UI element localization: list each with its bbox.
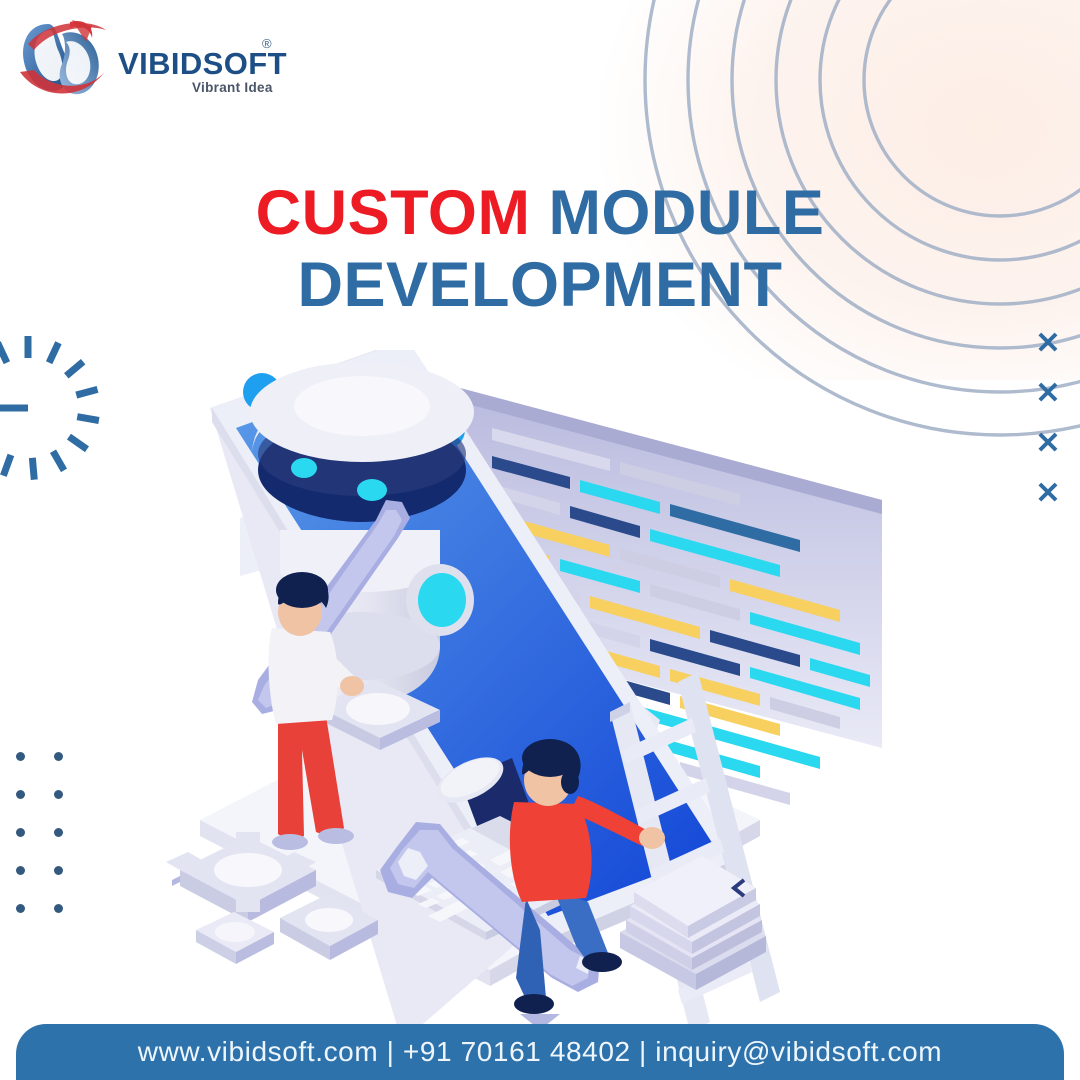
vibidsoft-infinity-swoosh-logo-icon (14, 16, 122, 102)
page-title: CUSTOM MODULE DEVELOPMENT (0, 178, 1080, 322)
contact-footer-bar: www.vibidsoft.com | +91 70161 48402 | in… (16, 1024, 1064, 1080)
isometric-custom-module-development-scene: # </> (140, 350, 940, 1040)
contact-footer-text[interactable]: www.vibidsoft.com | +91 70161 48402 | in… (138, 1036, 942, 1068)
dot-grid-decoration (16, 752, 92, 942)
x-mark-icon: ✕ (1034, 430, 1062, 458)
brand-logo[interactable]: VIBIDSOFT ® Vibrant Idea (14, 14, 278, 106)
headline-line-1: CUSTOM MODULE (0, 178, 1080, 250)
poster-canvas: ✕ ✕ ✕ ✕ (0, 0, 1080, 1080)
brand-tagline: Vibrant Idea (192, 80, 273, 95)
x-mark-icon: ✕ (1034, 380, 1062, 408)
headline-line1-rest: MODULE (548, 178, 824, 248)
headline-line-2: DEVELOPMENT (0, 250, 1080, 322)
sunburst-dashes-decoration (0, 318, 118, 498)
x-marks-decoration: ✕ ✕ ✕ ✕ (1034, 330, 1062, 508)
gear-small (196, 912, 274, 964)
x-mark-icon: ✕ (1034, 480, 1062, 508)
brand-wordmark: VIBIDSOFT (118, 46, 287, 82)
registered-trademark-icon: ® (262, 36, 272, 51)
headline-highlight: CUSTOM (256, 178, 531, 248)
x-mark-icon: ✕ (1034, 330, 1062, 358)
